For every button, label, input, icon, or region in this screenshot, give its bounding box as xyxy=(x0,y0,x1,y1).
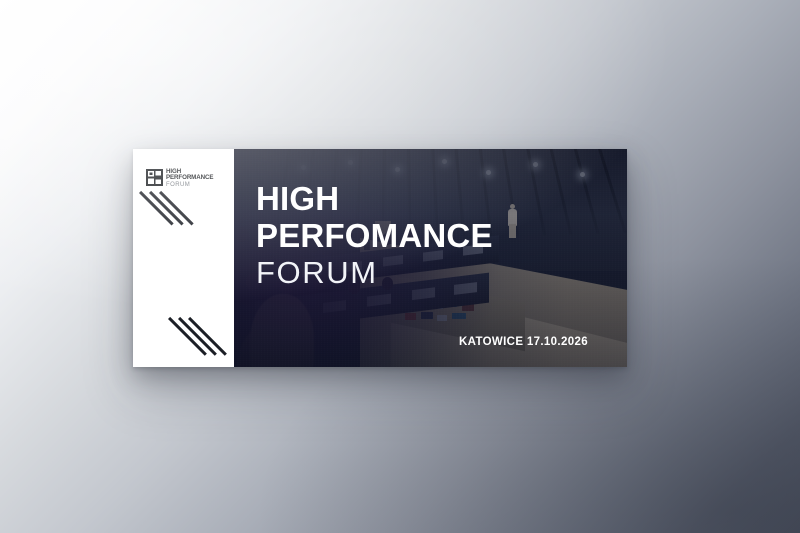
banner-hero-panel: HIGH PERFOMANCE FORUM KATOWICE 17.10.202… xyxy=(234,149,627,367)
brand-logo-wordmark: HIGH PERFORMANCE FORUM xyxy=(166,169,213,188)
logo-line-3: FORUM xyxy=(166,182,213,188)
hero-title-block: HIGH PERFOMANCE FORUM xyxy=(256,181,493,291)
hpf-monogram-icon xyxy=(146,169,163,186)
decorative-stripes-bottom xyxy=(168,319,234,363)
hero-title-line-1: HIGH xyxy=(256,181,493,217)
event-date-location: KATOWICE 17.10.2026 xyxy=(459,336,588,348)
decorative-stripes-top xyxy=(139,193,209,233)
brand-logo: HIGH PERFORMANCE FORUM xyxy=(146,169,213,188)
event-banner-card: HIGH PERFORMANCE FORUM xyxy=(133,149,627,367)
hero-title-line-3: FORUM xyxy=(256,255,493,291)
banner-left-panel: HIGH PERFORMANCE FORUM xyxy=(133,149,234,367)
mockup-scene: HIGH PERFORMANCE FORUM xyxy=(0,0,800,533)
hero-title-line-2: PERFOMANCE xyxy=(256,217,493,255)
